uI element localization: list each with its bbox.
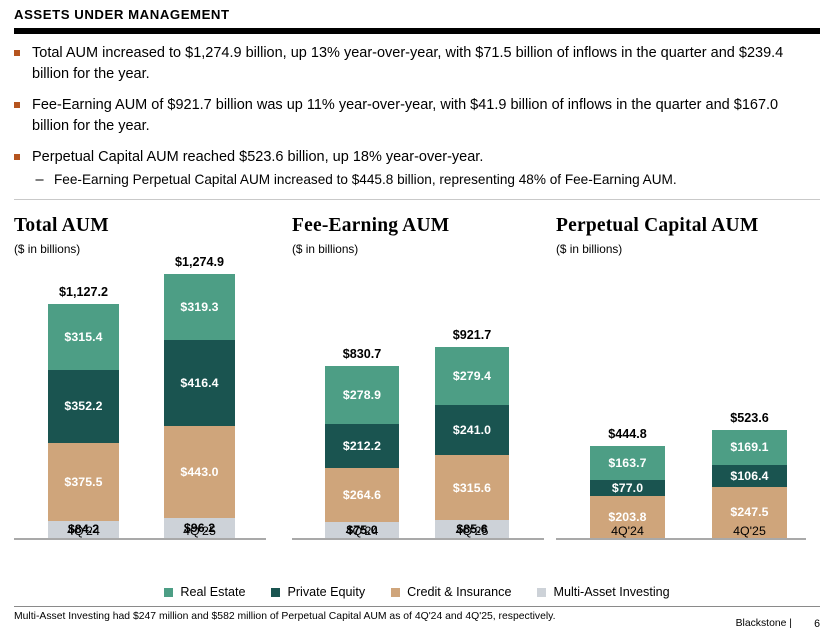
bar-segment-private-equity: $77.0 bbox=[590, 480, 665, 496]
x-axis-line bbox=[14, 538, 266, 540]
bullet-list: Total AUM increased to $1,274.9 billion,… bbox=[14, 43, 814, 191]
bar-total-label: $523.6 bbox=[712, 411, 787, 425]
bullet-dash-icon: – bbox=[35, 170, 44, 191]
x-axis-label: 4Q'24 bbox=[590, 524, 665, 538]
page-title: ASSETS UNDER MANAGEMENT bbox=[14, 7, 230, 22]
chart-plot: $444.8$163.7$77.0$203.84Q'24$523.6$169.1… bbox=[556, 262, 834, 562]
bullet-text: Perpetual Capital AUM reached $523.6 bil… bbox=[32, 147, 483, 168]
chart-panel-perpetual-capital-aum: Perpetual Capital AUM ($ in billions) $4… bbox=[556, 215, 834, 562]
bullet-square-icon bbox=[14, 50, 20, 56]
legend-item-real-estate: Real Estate bbox=[164, 585, 245, 599]
bar-segment-real-estate: $278.9 bbox=[325, 366, 399, 424]
bar-segment-label: $416.4 bbox=[180, 376, 218, 390]
bullet-subtext: Fee-Earning Perpetual Capital AUM increa… bbox=[54, 170, 677, 191]
bullet-square-icon bbox=[14, 154, 20, 160]
bullet-square-icon bbox=[14, 102, 20, 108]
bar-segment-label: $264.6 bbox=[343, 488, 381, 502]
bar-segment-real-estate: $163.7 bbox=[590, 446, 665, 480]
chart-plot: $1,127.2$315.4$352.2$375.5$84.24Q'24$1,2… bbox=[14, 262, 294, 562]
bar-segment-label: $163.7 bbox=[608, 456, 646, 470]
x-axis-line bbox=[556, 538, 806, 540]
bar-total-label: $1,127.2 bbox=[48, 285, 119, 299]
x-axis-label: 4Q'25 bbox=[164, 524, 235, 538]
bar-4q24: $444.8$163.7$77.0$203.84Q'24 bbox=[590, 446, 665, 538]
page-number: 6 bbox=[814, 618, 820, 630]
legend-label: Private Equity bbox=[287, 585, 365, 599]
bullet-text: Fee-Earning AUM of $921.7 billion was up… bbox=[32, 95, 814, 137]
chart-title: Perpetual Capital AUM bbox=[556, 215, 834, 237]
x-axis-label: 4Q'25 bbox=[712, 524, 787, 538]
chart-subtitle: ($ in billions) bbox=[14, 242, 294, 256]
bar-total-label: $1,274.9 bbox=[164, 255, 235, 269]
bar-segment-private-equity: $241.0 bbox=[435, 405, 509, 455]
chart-subtitle: ($ in billions) bbox=[292, 242, 572, 256]
brand-label: Blackstone | bbox=[736, 618, 792, 629]
legend-item-multi-asset-investing: Multi-Asset Investing bbox=[537, 585, 669, 599]
bar-segment-label: $106.4 bbox=[730, 469, 768, 483]
bar-segment-label: $203.8 bbox=[608, 510, 646, 524]
bar-segment-label: $278.9 bbox=[343, 388, 381, 402]
legend-swatch-icon bbox=[164, 588, 173, 597]
chart-plot: $830.7$278.9$212.2$264.6$75.04Q'24$921.7… bbox=[292, 262, 572, 562]
bar-segment-private-equity: $212.2 bbox=[325, 424, 399, 468]
bar-segment-label: $443.0 bbox=[180, 465, 218, 479]
legend-swatch-icon bbox=[537, 588, 546, 597]
bar-segment-credit---insurance: $264.6 bbox=[325, 468, 399, 523]
bar-segment-label: $77.0 bbox=[612, 481, 643, 495]
bar-segment-label: $169.1 bbox=[730, 440, 768, 454]
title-divider bbox=[14, 28, 820, 34]
x-axis-label: 4Q'24 bbox=[48, 524, 119, 538]
footer-divider bbox=[14, 606, 820, 607]
bar-segment-credit---insurance: $375.5 bbox=[48, 443, 119, 521]
bar-segment-real-estate: $319.3 bbox=[164, 274, 235, 340]
legend-label: Multi-Asset Investing bbox=[553, 585, 669, 599]
bar-4q24: $830.7$278.9$212.2$264.6$75.04Q'24 bbox=[325, 366, 399, 538]
bar-segment-private-equity: $352.2 bbox=[48, 370, 119, 443]
bar-segment-private-equity: $416.4 bbox=[164, 340, 235, 426]
bar-4q25: $1,274.9$319.3$416.4$443.0$96.24Q'25 bbox=[164, 274, 235, 538]
bar-segment-private-equity: $106.4 bbox=[712, 465, 787, 487]
footnote: Multi-Asset Investing had $247 million a… bbox=[14, 611, 556, 622]
bar-total-label: $444.8 bbox=[590, 427, 665, 441]
bullets-divider bbox=[14, 199, 820, 200]
chart-title: Fee-Earning AUM bbox=[292, 215, 572, 237]
bar-segment-label: $315.4 bbox=[64, 330, 102, 344]
bar-segment-label: $241.0 bbox=[453, 423, 491, 437]
legend-item-credit-insurance: Credit & Insurance bbox=[391, 585, 511, 599]
bullet-item-fee-earning-aum: Fee-Earning AUM of $921.7 billion was up… bbox=[14, 95, 814, 137]
bullet-text: Total AUM increased to $1,274.9 billion,… bbox=[32, 43, 814, 85]
x-axis-line bbox=[292, 538, 544, 540]
bar-segment-label: $247.5 bbox=[730, 505, 768, 519]
chart-panel-fee-earning-aum: Fee-Earning AUM ($ in billions) $830.7$2… bbox=[292, 215, 572, 562]
bullet-item-total-aum: Total AUM increased to $1,274.9 billion,… bbox=[14, 43, 814, 85]
bar-4q24: $1,127.2$315.4$352.2$375.5$84.24Q'24 bbox=[48, 304, 119, 538]
bullet-subitem-fee-earning-perpetual: – Fee-Earning Perpetual Capital AUM incr… bbox=[35, 170, 814, 191]
chart-legend: Real Estate Private Equity Credit & Insu… bbox=[0, 585, 834, 599]
bar-segment-label: $279.4 bbox=[453, 369, 491, 383]
bar-segment-real-estate: $279.4 bbox=[435, 347, 509, 405]
x-axis-label: 4Q'24 bbox=[325, 524, 399, 538]
bar-segment-label: $319.3 bbox=[180, 300, 218, 314]
bar-segment-label: $212.2 bbox=[343, 439, 381, 453]
chart-subtitle: ($ in billions) bbox=[556, 242, 834, 256]
chart-panel-total-aum: Total AUM ($ in billions) $1,127.2$315.4… bbox=[14, 215, 294, 562]
x-axis-label: 4Q'25 bbox=[435, 524, 509, 538]
bar-segment-real-estate: $315.4 bbox=[48, 304, 119, 369]
bar-4q25: $921.7$279.4$241.0$315.6$85.64Q'25 bbox=[435, 347, 509, 538]
legend-item-private-equity: Private Equity bbox=[271, 585, 365, 599]
chart-title: Total AUM bbox=[14, 215, 294, 237]
charts-region: Total AUM ($ in billions) $1,127.2$315.4… bbox=[0, 215, 834, 575]
bar-segment-real-estate: $169.1 bbox=[712, 430, 787, 465]
legend-label: Real Estate bbox=[180, 585, 245, 599]
bullet-item-perpetual-capital-aum: Perpetual Capital AUM reached $523.6 bil… bbox=[14, 147, 814, 168]
bar-total-label: $921.7 bbox=[435, 328, 509, 342]
bar-segment-label: $352.2 bbox=[64, 399, 102, 413]
bar-4q25: $523.6$169.1$106.4$247.54Q'25 bbox=[712, 430, 787, 538]
bar-segment-credit---insurance: $443.0 bbox=[164, 426, 235, 518]
bar-segment-credit---insurance: $315.6 bbox=[435, 455, 509, 520]
bar-segment-label: $315.6 bbox=[453, 481, 491, 495]
legend-swatch-icon bbox=[391, 588, 400, 597]
bar-total-label: $830.7 bbox=[325, 347, 399, 361]
legend-swatch-icon bbox=[271, 588, 280, 597]
bar-segment-label: $375.5 bbox=[64, 475, 102, 489]
legend-label: Credit & Insurance bbox=[407, 585, 511, 599]
